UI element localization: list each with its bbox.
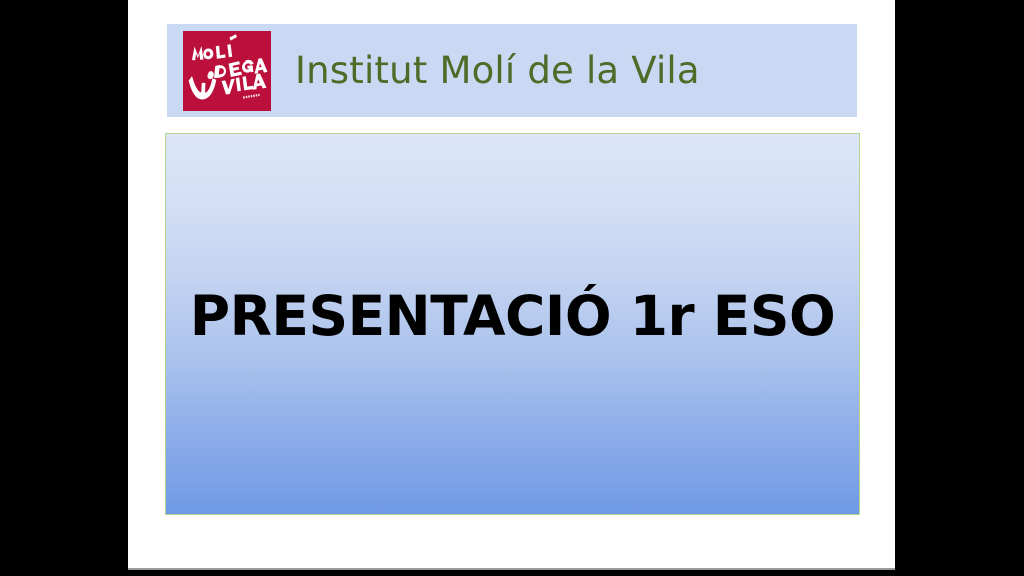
presentation-viewer: Institut Molí de la Vila PRESENTACIÓ 1r …: [0, 0, 1024, 576]
slide-header-bar: Institut Molí de la Vila: [167, 24, 857, 117]
school-name-title: Institut Molí de la Vila: [295, 49, 700, 92]
slide-content-panel: PRESENTACIÓ 1r ESO: [165, 133, 860, 515]
slide-canvas: Institut Molí de la Vila PRESENTACIÓ 1r …: [128, 0, 895, 570]
moli-de-la-vila-logo: [183, 31, 271, 111]
slide-main-title: PRESENTACIÓ 1r ESO: [190, 284, 835, 348]
